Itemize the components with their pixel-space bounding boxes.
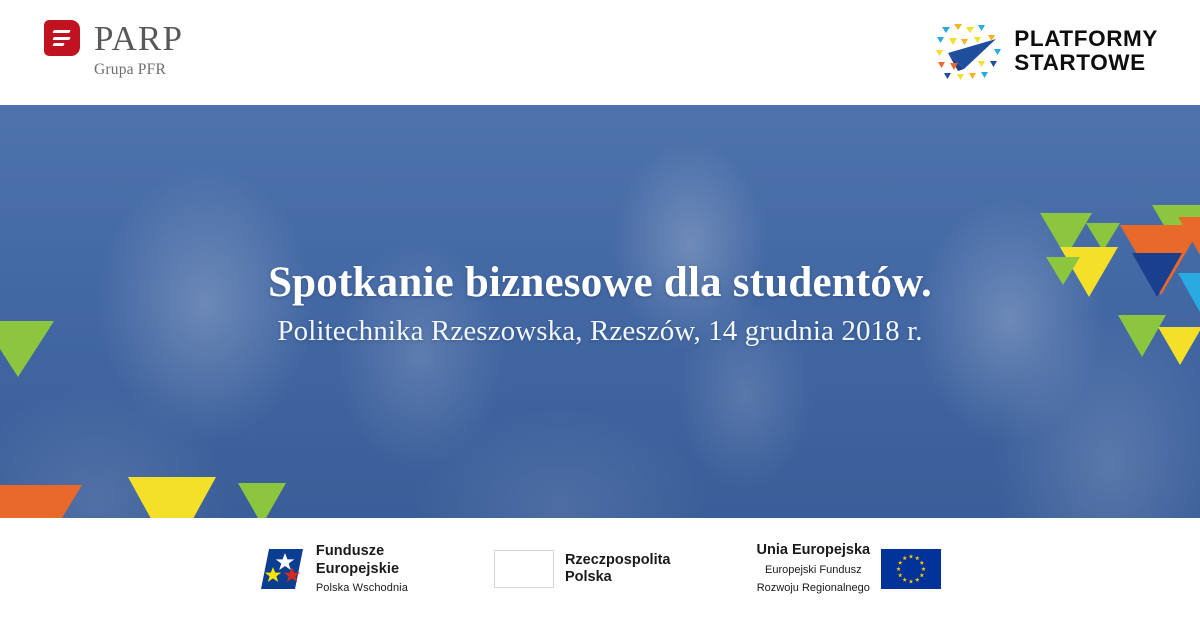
ue-line-2: Europejski Fundusz — [765, 564, 862, 576]
ps-line-1: PLATFORMY — [1014, 26, 1158, 51]
decorative-triangle — [128, 477, 216, 518]
platformy-startowe-wordmark: PLATFORMY STARTOWE — [1014, 27, 1158, 76]
parp-tagline: Grupa PFR — [94, 61, 166, 79]
rp-line-2: Polska — [565, 569, 612, 585]
header-bar: PARP Grupa PFR — [0, 0, 1200, 105]
ue-line-3: Rozwoju Regionalnego — [757, 582, 870, 594]
rp-line-1: Rzeczpospolita — [565, 552, 671, 568]
decorative-triangle — [0, 485, 82, 518]
footer-logo-bar: Fundusze Europejskie Polska Wschodnia Rz… — [0, 518, 1200, 628]
hero-subtitle: Politechnika Rzeszowska, Rzeszów, 14 gru… — [0, 315, 1200, 348]
ps-line-2: STARTOWE — [1014, 50, 1145, 75]
fe-stars-flag-icon — [259, 547, 305, 591]
fe-line-2: Europejskie — [316, 561, 399, 577]
poster-page: PARP Grupa PFR — [0, 0, 1200, 628]
paper-plane-triangle-icon — [934, 17, 1004, 85]
hero-text-block: Spotkanie biznesowe dla studentów. Polit… — [0, 259, 1200, 349]
parp-stripes-icon — [44, 20, 80, 56]
fe-line-3: Polska Wschodnia — [316, 582, 408, 594]
parp-wordmark: PARP — [94, 21, 183, 56]
fundusze-europejskie-logo[interactable]: Fundusze Europejskie Polska Wschodnia — [259, 542, 408, 597]
decorative-triangle — [238, 483, 286, 518]
polish-flag-icon — [494, 550, 554, 588]
hero-banner: Spotkanie biznesowe dla studentów. Polit… — [0, 105, 1200, 518]
parp-logo-row: PARP — [44, 20, 183, 56]
rzeczpospolita-text-block: Rzeczpospolita Polska — [565, 552, 671, 586]
ue-line-1: Unia Europejska — [757, 542, 871, 558]
platformy-startowe-logo[interactable]: PLATFORMY STARTOWE — [934, 17, 1158, 85]
parp-logo[interactable]: PARP Grupa PFR — [44, 20, 183, 79]
ue-text-block: Unia Europejska Europejski Fundusz Rozwo… — [757, 541, 871, 597]
rzeczpospolita-polska-logo[interactable]: Rzeczpospolita Polska — [494, 550, 671, 588]
unia-europejska-logo[interactable]: Unia Europejska Europejski Fundusz Rozwo… — [757, 541, 942, 597]
hero-title: Spotkanie biznesowe dla studentów. — [0, 259, 1200, 306]
fe-line-1: Fundusze — [316, 543, 384, 559]
fe-text-block: Fundusze Europejskie Polska Wschodnia — [316, 542, 408, 597]
eu-flag-icon — [881, 549, 941, 589]
